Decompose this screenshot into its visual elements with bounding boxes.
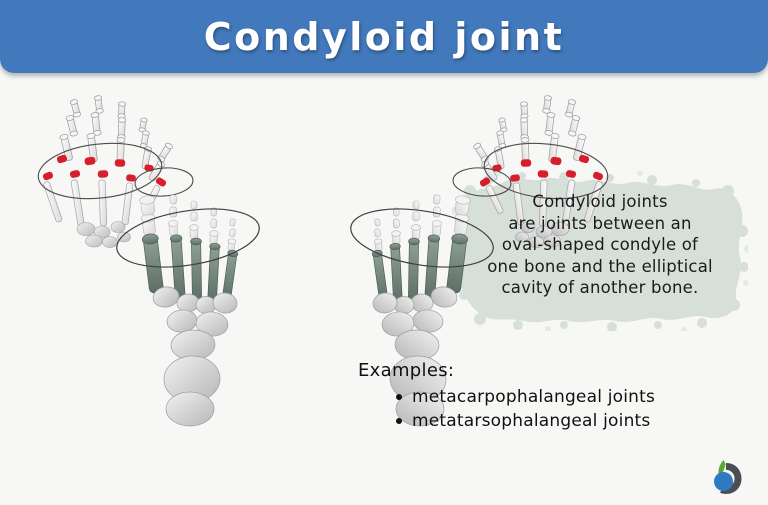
definition-line-2: are joints between an bbox=[440, 213, 760, 235]
examples-section: Examples: metacarpophalangeal joints met… bbox=[358, 359, 758, 433]
main-content: Condyloid joints are joints between an o… bbox=[0, 73, 768, 432]
biology-online-logo bbox=[706, 457, 746, 497]
examples-title: Examples: bbox=[358, 359, 758, 383]
page-title: Condyloid joint bbox=[204, 15, 564, 59]
metatarsals-left bbox=[142, 233, 238, 303]
hand-skeleton-left bbox=[36, 95, 194, 247]
list-item: metacarpophalangeal joints bbox=[396, 385, 758, 409]
definition-line-5: cavity of another bone. bbox=[440, 277, 760, 299]
definition-line-3: oval-shaped condyle of bbox=[440, 234, 760, 256]
mcp-joint-highlights-left bbox=[42, 154, 167, 187]
definition-line-1: Condyloid joints bbox=[440, 191, 760, 213]
ellipse-metacarpophalangeal-joints-left bbox=[36, 138, 194, 205]
foot-skeleton-left bbox=[113, 195, 264, 426]
definition-line-4: one bone and the elliptical bbox=[440, 256, 760, 278]
definition-text: Condyloid joints are joints between an o… bbox=[440, 191, 760, 299]
examples-list: metacarpophalangeal joints metatarsophal… bbox=[358, 385, 758, 433]
ellipse-metatarsophalangeal-joints-left bbox=[113, 200, 264, 276]
list-item: metatarsophalangeal joints bbox=[396, 409, 758, 433]
page-header: Condyloid joint bbox=[0, 0, 768, 73]
